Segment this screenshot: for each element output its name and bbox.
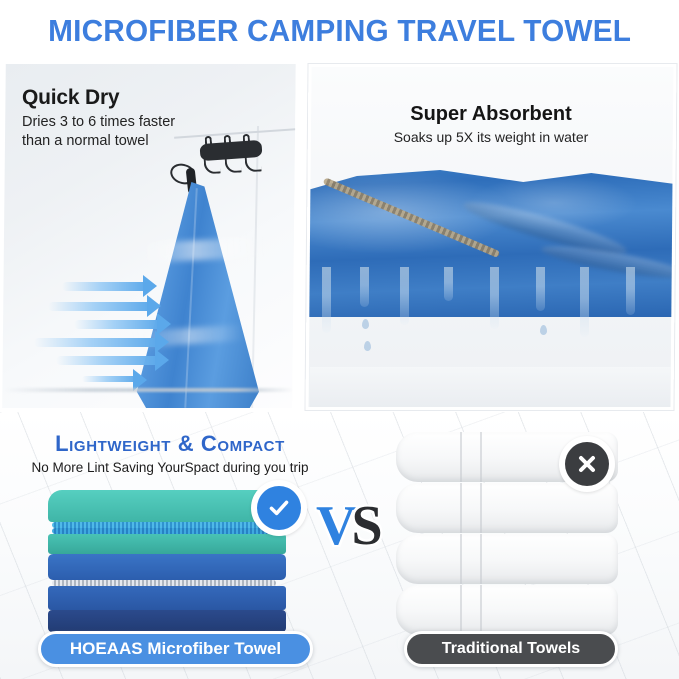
x-circle-icon — [559, 436, 615, 492]
panel-super-absorbent: Super Absorbent Soaks up 5X its weight i… — [305, 64, 676, 410]
versus-v: V — [316, 495, 351, 557]
quick-dry-heading: Quick Dry — [22, 86, 119, 110]
versus-s: S — [351, 495, 377, 557]
quick-dry-subtext: Dries 3 to 6 times faster than a normal … — [22, 113, 212, 151]
lightweight-heading: Lightweight & Compact — [0, 431, 340, 457]
page-title: MICROFIBER CAMPING TRAVEL TOWEL — [48, 13, 631, 49]
wind-arrows-icon — [28, 278, 188, 398]
super-absorbent-subtext: Soaks up 5X its weight in water — [310, 129, 672, 145]
water-drip-icon — [305, 267, 676, 357]
lightweight-subtext: No More Lint Saving YourSpact during you… — [0, 460, 340, 475]
product-infographic: MICROFIBER CAMPING TRAVEL TOWEL Quick Dr… — [0, 0, 679, 679]
super-absorbent-heading: Super Absorbent — [310, 103, 672, 126]
traditional-towels-label: Traditional Towels — [404, 631, 618, 667]
panel-quick-dry: Quick Dry Dries 3 to 6 times faster than… — [2, 64, 298, 408]
quick-dry-subtext-line-1: Dries 3 to 6 times faster — [22, 113, 212, 132]
check-circle-icon — [251, 480, 307, 536]
versus-mark: VS — [316, 498, 378, 554]
quick-dry-subtext-line-2: than a normal towel — [22, 132, 212, 151]
quick-dry-floor-shadow — [4, 388, 294, 392]
hoeaas-microfiber-towel-label: HOEAAS Microfiber Towel — [38, 631, 313, 667]
absorbent-panel-base — [310, 367, 672, 407]
infographic-title-bar: MICROFIBER CAMPING TRAVEL TOWEL — [0, 0, 679, 62]
